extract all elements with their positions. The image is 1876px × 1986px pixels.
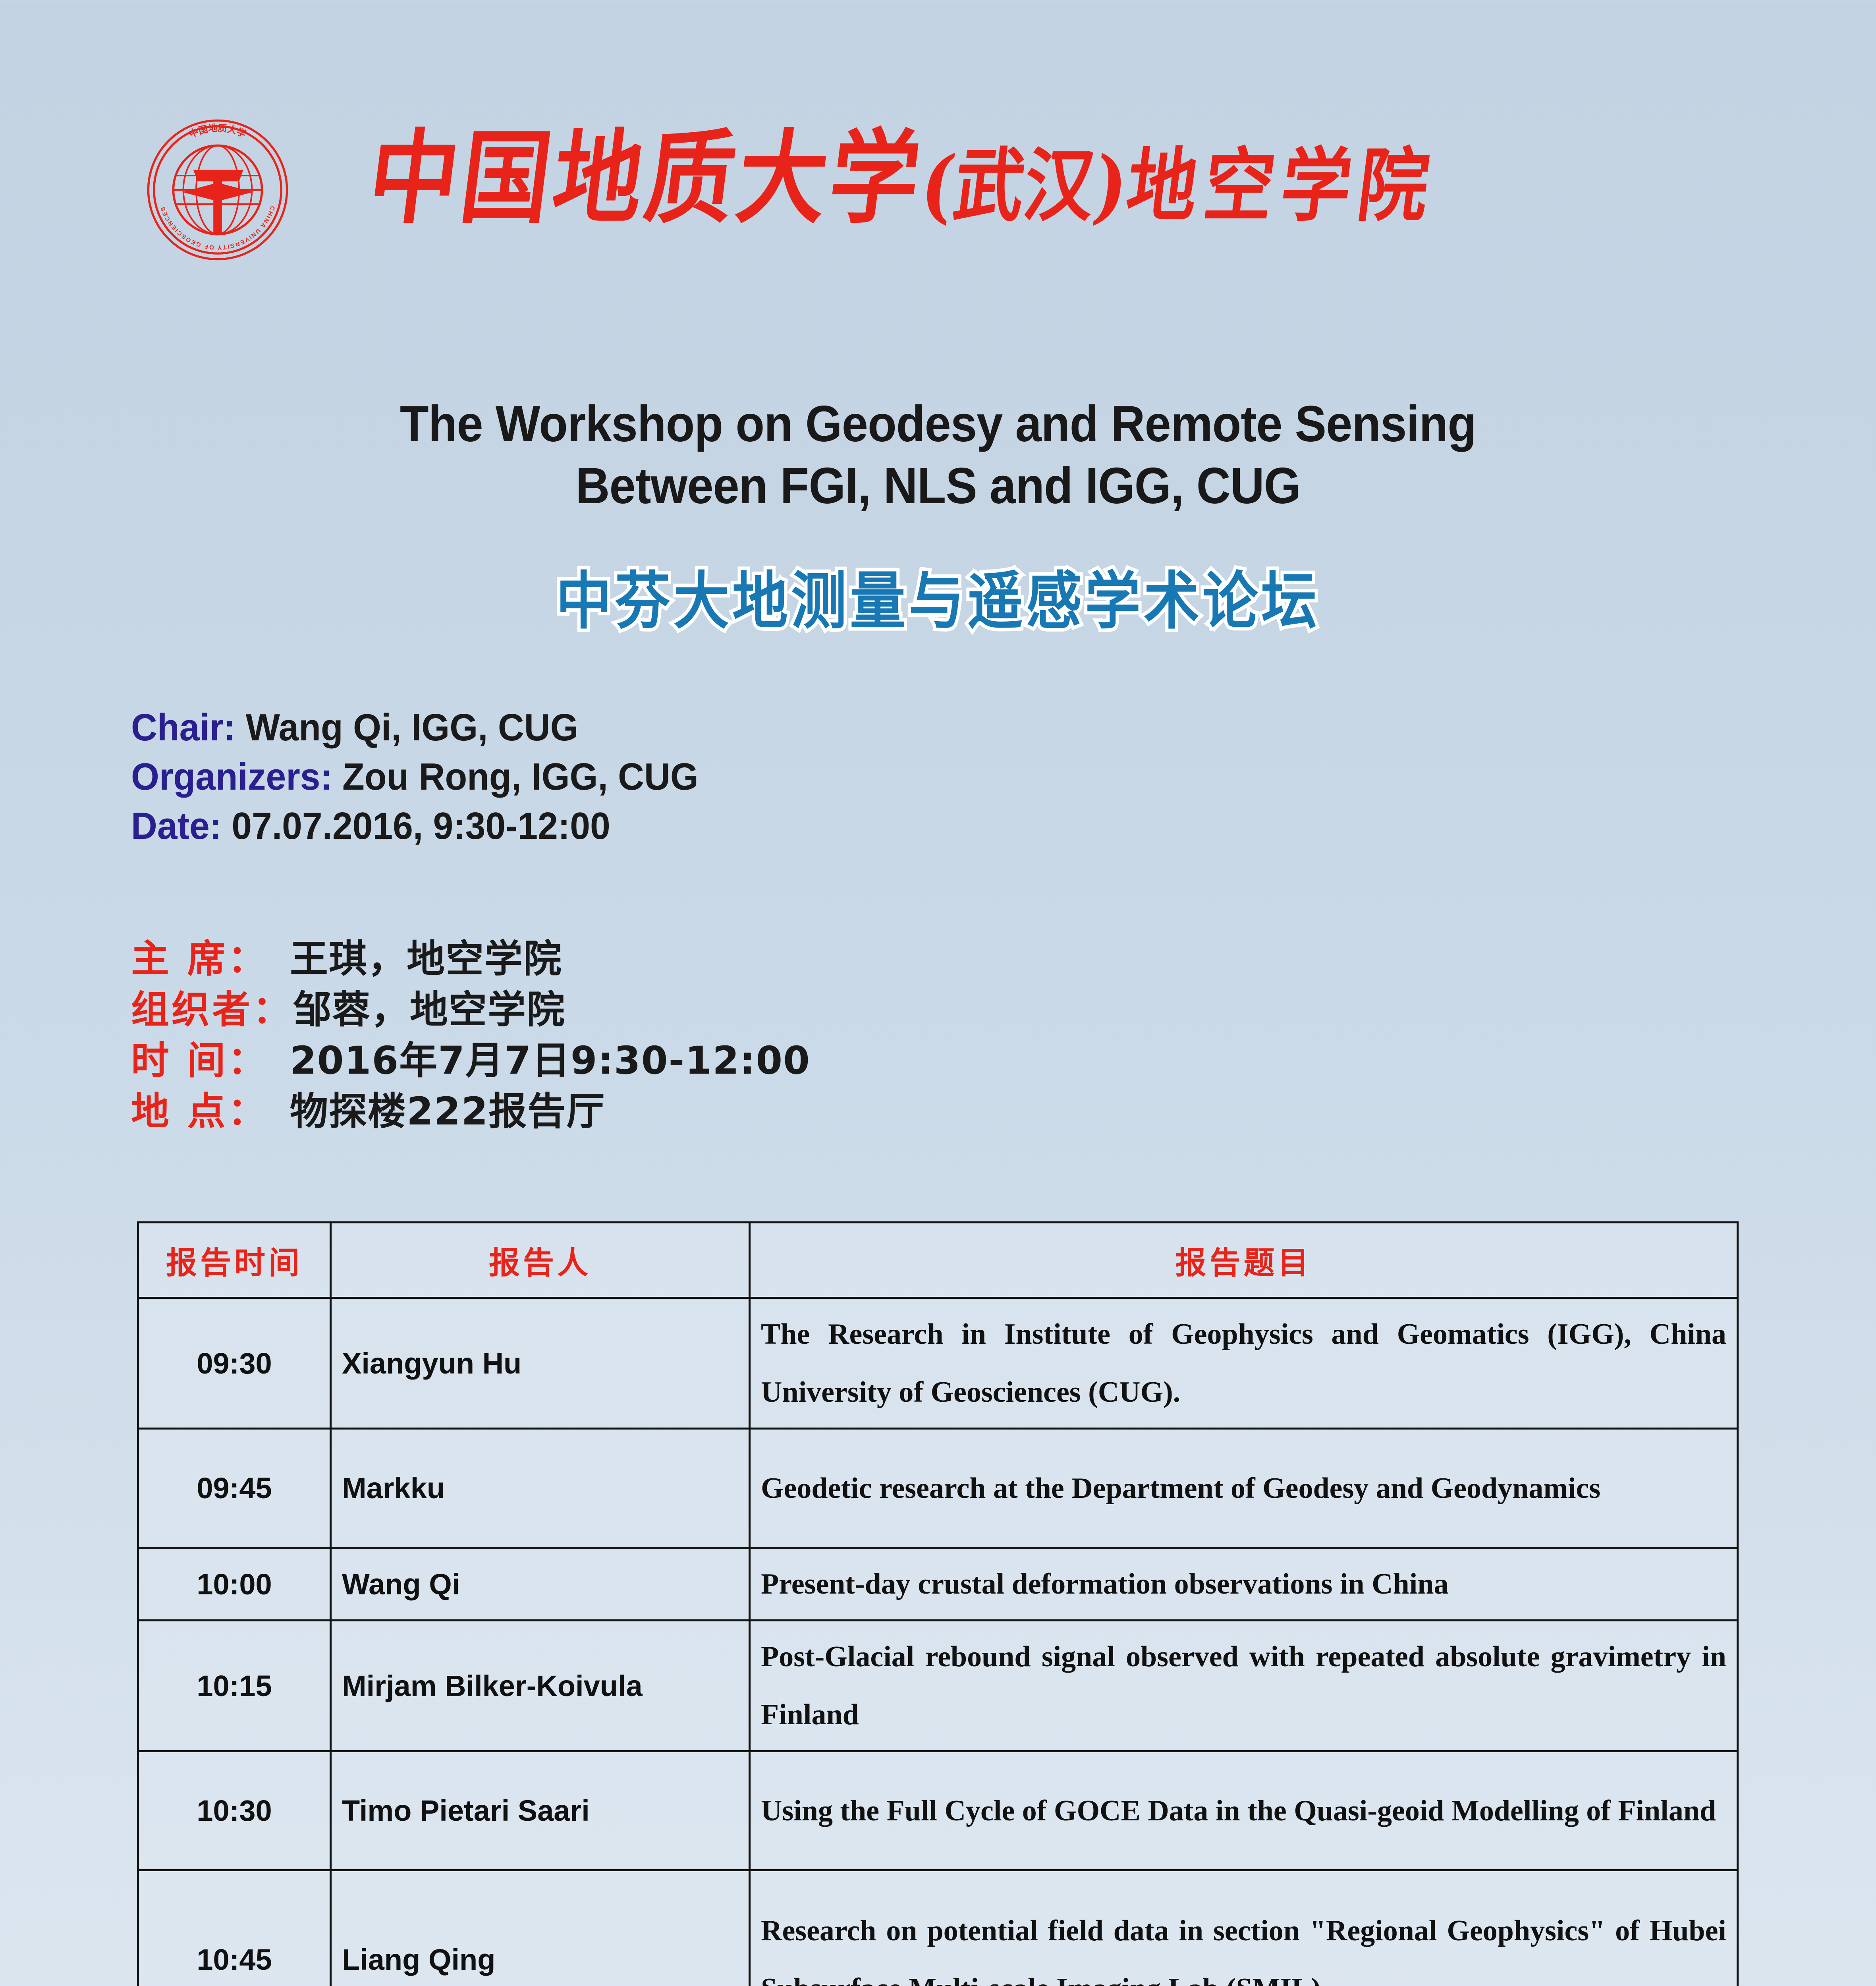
cell-title: The Research in Institute of Geophysics …: [750, 1298, 1738, 1429]
cell-time: 10:00: [138, 1548, 331, 1621]
cell-title: Post-Glacial rebound signal observed wit…: [750, 1621, 1738, 1751]
title-line-2: Between FGI, NLS and IGG, CUG: [66, 455, 1810, 517]
cell-time: 10:30: [138, 1751, 331, 1870]
cell-speaker: Timo Pietari Saari: [331, 1751, 750, 1870]
chair-label: Chair:: [131, 706, 235, 749]
chair-row: Chair: Wang Qi, IGG, CUG: [131, 703, 699, 752]
date-value: 07.07.2016, 9:30-12:00: [232, 805, 610, 847]
chinese-venue-row: 地 点： 物探楼222报告厅: [131, 1086, 811, 1137]
date-label: Date:: [131, 805, 222, 847]
organizers-label: Organizers:: [131, 755, 332, 798]
column-header-time: 报告时间: [138, 1223, 331, 1298]
cell-title: Using the Full Cycle of GOCE Data in the…: [750, 1751, 1738, 1870]
university-name-calligraphy: 中国地质大学(武汉)地空学院: [360, 103, 1801, 257]
cell-speaker: Markku: [331, 1429, 750, 1548]
cell-speaker: Xiangyun Hu: [331, 1298, 750, 1429]
programme-table: 报告时间 报告人 报告题目 09:30Xiangyun HuThe Resear…: [137, 1221, 1739, 1986]
cell-speaker: Wang Qi: [331, 1548, 750, 1621]
cell-time: 09:45: [138, 1429, 331, 1548]
table-row: 10:15Mirjam Bilker-KoivulaPost-Glacial r…: [138, 1621, 1738, 1751]
chinese-venue-label: 地 点：: [131, 1086, 290, 1137]
table-row: 09:30Xiangyun HuThe Research in Institut…: [138, 1298, 1738, 1429]
chinese-chair-value: 王琪，地空学院: [290, 933, 562, 984]
cell-speaker: Liang Qing: [331, 1870, 750, 1986]
cell-title: Geodetic research at the Department of G…: [750, 1429, 1738, 1548]
chinese-organizer-row: 组织者： 邹蓉，地空学院: [131, 984, 811, 1035]
chinese-organizer-label: 组织者：: [131, 984, 293, 1035]
cug-seal-logo: 中国地质大学 CHINA UNIVERSITY OF GEOSCIENCES: [146, 118, 289, 261]
cell-title: Research on potential field data in sect…: [750, 1870, 1738, 1986]
chinese-subtitle: 中芬大地测量与遥感学术论坛: [0, 564, 1876, 639]
table-row: 10:45Liang QingResearch on potential fie…: [138, 1870, 1738, 1986]
university-name-sub: 地空学院: [1121, 139, 1441, 232]
title-line-1: The Workshop on Geodesy and Remote Sensi…: [66, 393, 1810, 455]
masthead: 中国地质大学 CHINA UNIVERSITY OF GEOSCIENCES 中…: [0, 99, 1876, 258]
table-row: 10:00Wang QiPresent-day crustal deformat…: [138, 1548, 1738, 1621]
column-header-title: 报告题目: [750, 1223, 1738, 1298]
chinese-chair-row: 主 席： 王琪，地空学院: [131, 933, 811, 984]
chinese-info-block: 主 席： 王琪，地空学院 组织者： 邹蓉，地空学院 时 间： 2016年7月7日…: [131, 933, 811, 1137]
column-header-speaker: 报告人: [331, 1223, 750, 1298]
cell-time: 09:30: [138, 1298, 331, 1429]
cell-title: Present-day crustal deformation observat…: [750, 1548, 1738, 1621]
chinese-time-row: 时 间： 2016年7月7日9:30-12:00: [131, 1035, 811, 1086]
chinese-time-label: 时 间：: [131, 1035, 290, 1086]
table-header-row: 报告时间 报告人 报告题目: [138, 1223, 1738, 1298]
english-info-block: Chair: Wang Qi, IGG, CUG Organizers: Zou…: [131, 703, 699, 851]
page-title: The Workshop on Geodesy and Remote Sensi…: [66, 393, 1810, 517]
chinese-venue-value: 物探楼222报告厅: [290, 1086, 605, 1137]
cell-speaker: Mirjam Bilker-Koivula: [331, 1621, 750, 1751]
cell-time: 10:15: [138, 1621, 331, 1751]
cell-time: 10:45: [138, 1870, 331, 1986]
organizers-value: Zou Rong, IGG, CUG: [342, 755, 699, 798]
table-row: 09:45MarkkuGeodetic research at the Depa…: [138, 1429, 1738, 1548]
chair-value: Wang Qi, IGG, CUG: [246, 706, 579, 749]
table-row: 10:30Timo Pietari SaariUsing the Full Cy…: [138, 1751, 1738, 1870]
date-row: Date: 07.07.2016, 9:30-12:00: [131, 802, 699, 851]
university-name-main: 中国地质大学: [362, 118, 930, 238]
chinese-chair-label: 主 席：: [131, 933, 290, 984]
university-name-paren: (武汉): [916, 139, 1133, 232]
chinese-time-value: 2016年7月7日9:30-12:00: [290, 1035, 811, 1086]
organizers-row: Organizers: Zou Rong, IGG, CUG: [131, 752, 699, 802]
chinese-organizer-value: 邹蓉，地空学院: [293, 984, 566, 1035]
